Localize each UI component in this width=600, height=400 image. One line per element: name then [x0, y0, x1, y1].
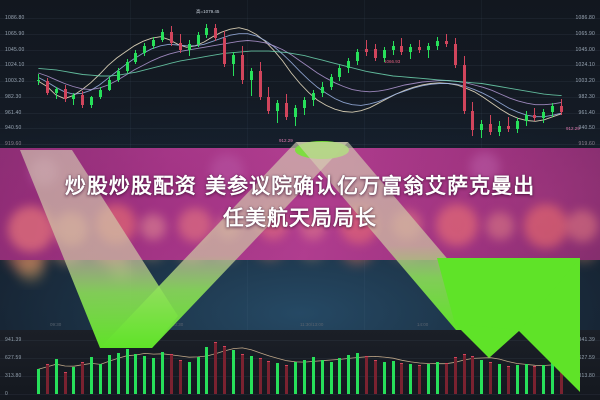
volume-bar [161, 352, 164, 394]
volume-bar [338, 358, 341, 394]
price-axis-label-left: 961.40 [5, 110, 22, 116]
volume-bar [72, 367, 75, 394]
volume-axis-label-right: 627.59 [579, 355, 596, 361]
price-axis-label-right: 1003.20 [576, 78, 595, 84]
price-axis-label-left: 1003.20 [5, 78, 24, 84]
volume-bar [99, 364, 102, 394]
volume-bar [516, 365, 519, 394]
volume-bar [241, 354, 244, 394]
price-axis-label-left: 1086.80 [5, 15, 24, 21]
volume-bar [374, 360, 377, 394]
volume-bar [498, 364, 501, 394]
price-axis-label-right: 940.50 [579, 125, 596, 131]
price-axis-label-right: 1065.90 [576, 31, 595, 37]
price-axis-label-left: 919.60 [5, 141, 22, 147]
price-axis-label-right: 1086.80 [576, 15, 595, 21]
volume-bar [250, 356, 253, 394]
volume-bar [134, 354, 137, 394]
volume-bar [409, 364, 412, 394]
volume-bar [46, 364, 49, 394]
volume-bar [143, 356, 146, 394]
low-annotation-right: 912.29 [566, 126, 580, 131]
volume-bar [436, 362, 439, 394]
volume-axis-label-right: 313.80 [579, 373, 596, 379]
volume-bar [108, 355, 111, 394]
volume-bar [347, 355, 350, 394]
volume-gridline [0, 340, 600, 341]
volume-bar [205, 347, 208, 394]
volume-bar [330, 362, 333, 394]
volume-bar [259, 358, 262, 394]
volume-bar [542, 365, 545, 394]
price-axis-label-left: 940.50 [5, 125, 22, 131]
volume-bar [445, 363, 448, 394]
volume-bar [188, 362, 191, 394]
volume-bar [126, 349, 129, 394]
price-axis-label-right: 982.30 [579, 94, 596, 100]
volume-bar [560, 368, 563, 394]
volume-bar [312, 357, 315, 394]
volume-bar [356, 353, 359, 394]
volume-bar [427, 364, 430, 394]
volume-bar [152, 358, 155, 394]
time-axis-label: 10:30 [172, 322, 183, 327]
price-axis-label-right: 919.60 [579, 141, 596, 147]
time-axis-label: 09:30 [50, 322, 61, 327]
headline-line-2: 任美航天局局长 [0, 202, 600, 234]
volume-axis-label-left: 627.59 [5, 355, 22, 361]
volume-bar [64, 372, 67, 394]
volume-bar [365, 356, 368, 394]
volume-chart-panel: 941.39627.59313.800 941.39627.59313.80 [0, 330, 600, 400]
volume-bar [55, 359, 58, 394]
volume-bar [533, 366, 536, 394]
mid-annotation: 1066.93 [384, 59, 400, 64]
volume-bar [232, 350, 235, 394]
volume-bar [81, 362, 84, 394]
volume-bar [418, 365, 421, 394]
price-axis-label-right: 1024.10 [576, 62, 595, 68]
volume-bar [223, 346, 226, 394]
volume-bar [37, 369, 40, 394]
volume-bar [285, 365, 288, 394]
time-axis-label: 11:30/13:00 [300, 322, 323, 327]
volume-bar [471, 356, 474, 394]
volume-bar [489, 362, 492, 394]
volume-bar [197, 357, 200, 394]
bokeh-circle [462, 258, 486, 282]
volume-bar [321, 360, 324, 394]
volume-bar [170, 354, 173, 394]
volume-bar [276, 363, 279, 394]
volume-bar [179, 360, 182, 394]
volume-bar [525, 364, 528, 394]
volume-bar [383, 362, 386, 394]
volume-bar [400, 363, 403, 394]
volume-bar [117, 353, 120, 394]
price-axis-label-left: 1024.10 [5, 62, 24, 68]
low-annotation-left: 912.29 [279, 138, 293, 143]
stock-news-banner-image: 1086.801065.901045.001024.101003.20982.3… [0, 0, 600, 400]
volume-bar [294, 362, 297, 394]
price-axis-label-left: 1045.00 [5, 47, 24, 53]
volume-axis-label-left: 0 [5, 391, 8, 397]
volume-bar [480, 360, 483, 394]
volume-bar [267, 361, 270, 394]
volume-gridline [0, 394, 600, 395]
volume-axis-label-left: 313.80 [5, 373, 22, 379]
volume-bar [507, 366, 510, 394]
volume-bar [214, 342, 217, 394]
volume-bar [90, 357, 93, 394]
volume-bar [463, 354, 466, 394]
high-annotation: 高=1079.45 [196, 9, 219, 15]
volume-axis-label-left: 941.39 [5, 337, 22, 343]
bokeh-circle [110, 260, 132, 282]
price-axis-label-right: 961.40 [579, 110, 596, 116]
volume-bar [551, 363, 554, 394]
volume-bar [392, 361, 395, 394]
volume-bar [454, 357, 457, 394]
time-axis-label: 15:00 [539, 322, 550, 327]
time-axis-label: 14:00 [417, 322, 428, 327]
volume-bar [303, 360, 306, 394]
headline-line-1: 炒股炒股配资 美参议院确认亿万富翁艾萨克曼出 [0, 170, 600, 202]
price-axis-label-left: 1065.90 [5, 31, 24, 37]
price-axis-label-left: 982.30 [5, 94, 22, 100]
price-axis-label-right: 1045.00 [576, 47, 595, 53]
page-title: 炒股炒股配资 美参议院确认亿万富翁艾萨克曼出 任美航天局局长 [0, 170, 600, 234]
volume-axis-label-right: 941.39 [579, 337, 596, 343]
